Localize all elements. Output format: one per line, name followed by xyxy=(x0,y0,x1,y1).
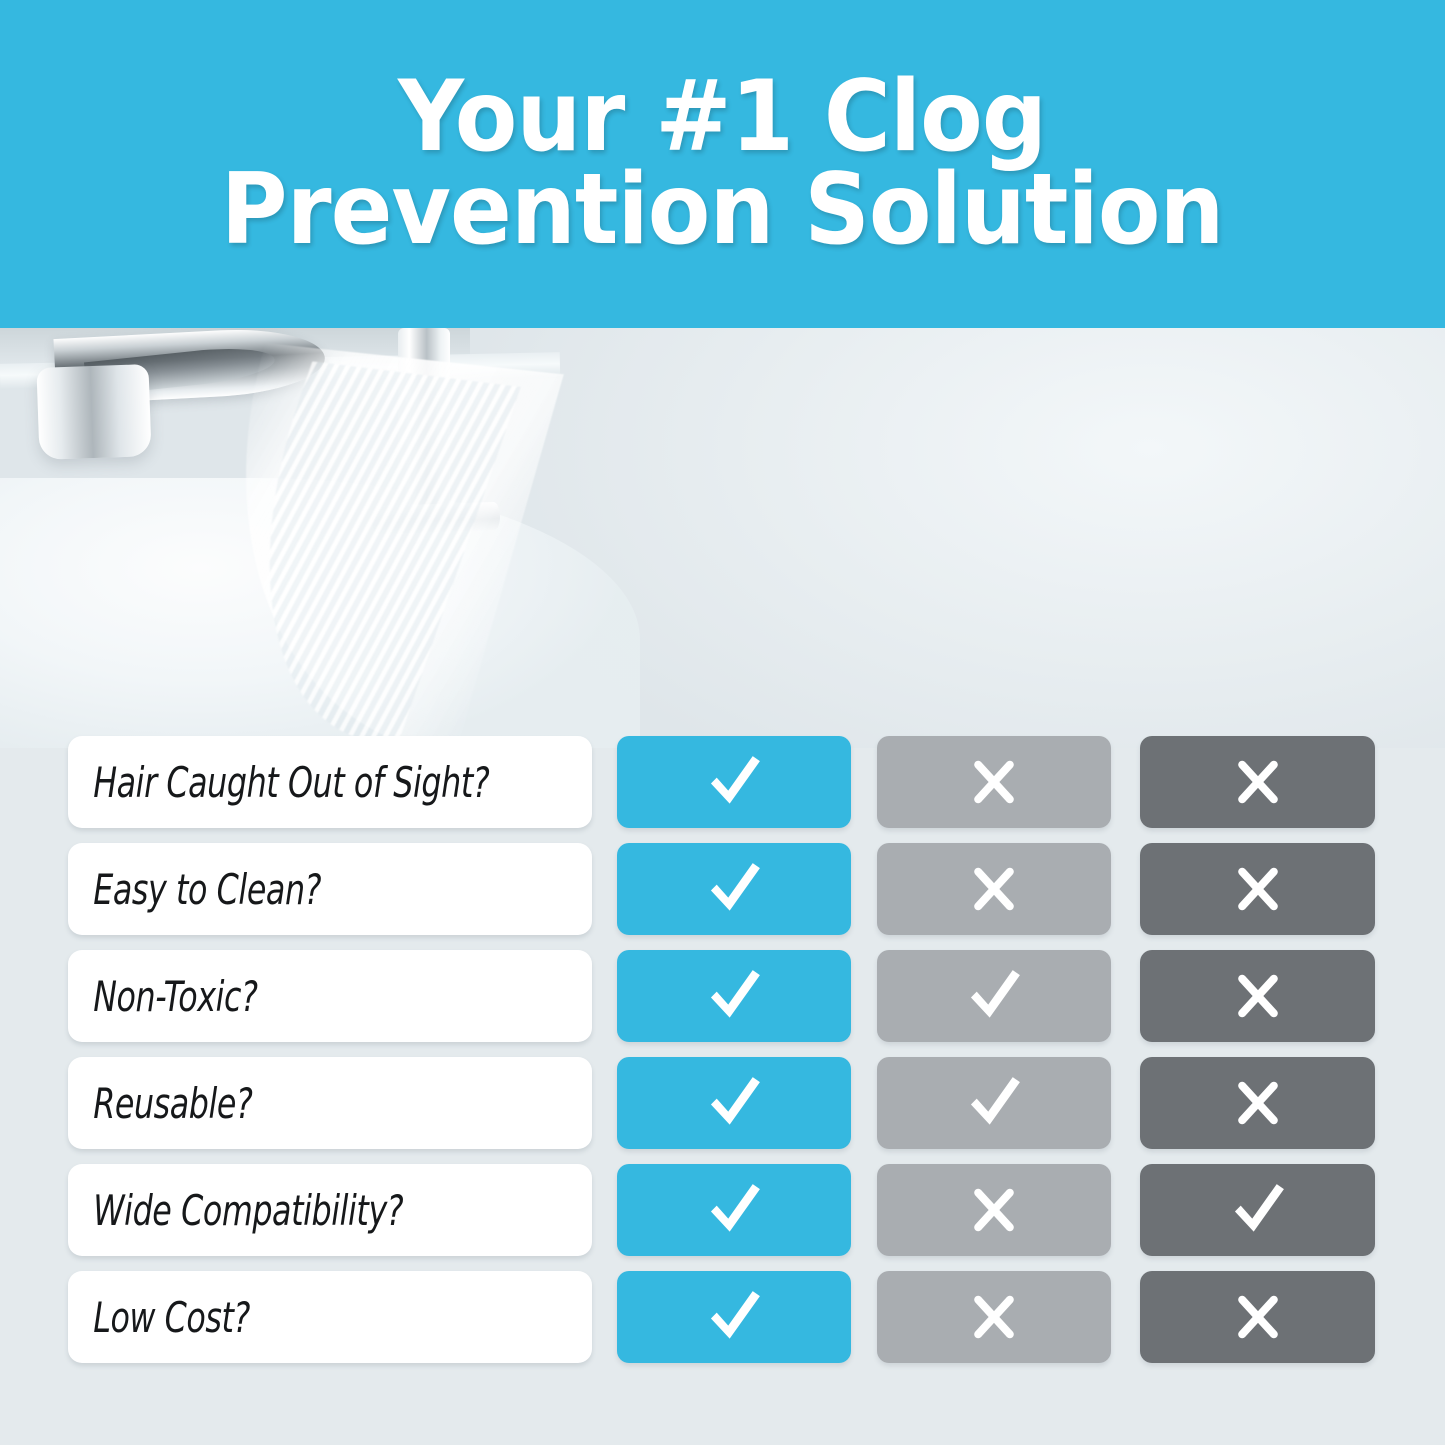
feature-label-text: Reusable? xyxy=(68,1079,252,1128)
feature-label-card: Low Cost? xyxy=(68,1271,592,1363)
cross-icon xyxy=(958,746,1030,818)
check-icon xyxy=(698,746,770,818)
faucet-neck xyxy=(36,364,151,460)
feature-label-card: Reusable? xyxy=(68,1057,592,1149)
comparison-cell-blue-strainer xyxy=(617,843,851,935)
comparison-cell-gray-strainers xyxy=(877,950,1111,1042)
cross-icon xyxy=(958,1281,1030,1353)
cross-icon xyxy=(1222,1067,1294,1139)
check-icon xyxy=(698,853,770,925)
check-icon xyxy=(958,960,1030,1032)
comparison-cell-blue-strainer xyxy=(617,1271,851,1363)
comparison-cell-gray-strainers xyxy=(877,843,1111,935)
feature-label-text: Hair Caught Out of Sight? xyxy=(68,758,489,807)
page-title: Your #1 Clog Prevention Solution xyxy=(184,71,1261,257)
comparison-cell-blue-strainer xyxy=(617,950,851,1042)
feature-label-text: Wide Compatibility? xyxy=(68,1186,403,1235)
comparison-cell-drain-cleaner xyxy=(1140,1057,1375,1149)
feature-label-card: Wide Compatibility? xyxy=(68,1164,592,1256)
feature-label-card: Easy to Clean? xyxy=(68,843,592,935)
table-row: Hair Caught Out of Sight? xyxy=(0,736,1445,828)
comparison-cell-gray-strainers xyxy=(877,736,1111,828)
table-row: Reusable? xyxy=(0,1057,1445,1149)
comparison-cell-blue-strainer xyxy=(617,1057,851,1149)
check-icon xyxy=(698,1174,770,1246)
check-icon xyxy=(698,960,770,1032)
comparison-table: Hair Caught Out of Sight?Easy to Clean?N… xyxy=(0,736,1445,1376)
table-row: Wide Compatibility? xyxy=(0,1164,1445,1256)
feature-label-card: Hair Caught Out of Sight? xyxy=(68,736,592,828)
check-icon xyxy=(1222,1174,1294,1246)
comparison-cell-drain-cleaner xyxy=(1140,843,1375,935)
comparison-cell-gray-strainers xyxy=(877,1164,1111,1256)
comparison-cell-gray-strainers xyxy=(877,1057,1111,1149)
table-row: Easy to Clean? xyxy=(0,843,1445,935)
product-hero-scene: 80 OZ VALUE SIZE GREAT ON TOUGH HAIR CLO… xyxy=(0,328,1445,748)
feature-label-text: Easy to Clean? xyxy=(68,865,321,914)
comparison-cell-drain-cleaner xyxy=(1140,1164,1375,1256)
check-icon xyxy=(958,1067,1030,1139)
comparison-cell-drain-cleaner xyxy=(1140,736,1375,828)
comparison-cell-blue-strainer xyxy=(617,736,851,828)
comparison-cell-drain-cleaner xyxy=(1140,1271,1375,1363)
feature-label-card: Non-Toxic? xyxy=(68,950,592,1042)
cross-icon xyxy=(1222,1281,1294,1353)
header-banner: Your #1 Clog Prevention Solution xyxy=(0,0,1445,328)
comparison-cell-drain-cleaner xyxy=(1140,950,1375,1042)
comparison-cell-blue-strainer xyxy=(617,1164,851,1256)
cross-icon xyxy=(958,853,1030,925)
comparison-cell-gray-strainers xyxy=(877,1271,1111,1363)
infographic-page: Your #1 Clog Prevention Solution xyxy=(0,0,1445,1445)
cross-icon xyxy=(1222,960,1294,1032)
cross-icon xyxy=(1222,853,1294,925)
check-icon xyxy=(698,1281,770,1353)
check-icon xyxy=(698,1067,770,1139)
table-row: Non-Toxic? xyxy=(0,950,1445,1042)
feature-label-text: Low Cost? xyxy=(68,1293,250,1342)
feature-label-text: Non-Toxic? xyxy=(68,972,257,1021)
cross-icon xyxy=(958,1174,1030,1246)
cross-icon xyxy=(1222,746,1294,818)
table-row: Low Cost? xyxy=(0,1271,1445,1363)
